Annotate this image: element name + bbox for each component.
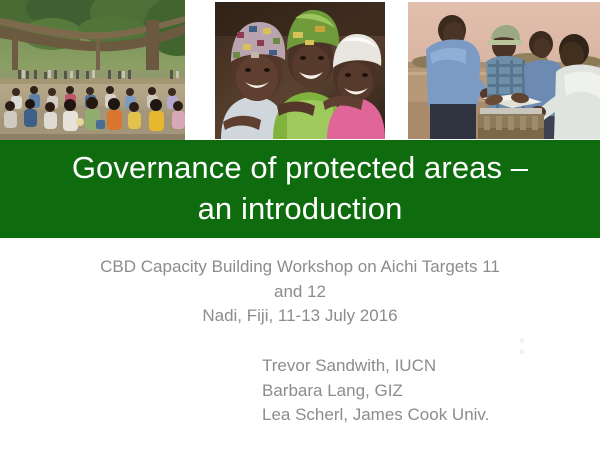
event-subtitle: CBD Capacity Building Workshop on Aichi … bbox=[60, 255, 540, 329]
subtitle-line-1: CBD Capacity Building Workshop on Aichi … bbox=[60, 255, 540, 280]
three-women-embracing-image bbox=[215, 2, 385, 139]
presenter-2: Barbara Lang, GIZ bbox=[262, 379, 489, 404]
faint-placeholder-marks bbox=[520, 338, 526, 360]
slide-body: CBD Capacity Building Workshop on Aichi … bbox=[0, 238, 600, 450]
title-banner: Governance of protected areas – an intro… bbox=[0, 140, 600, 238]
presentation-slide: Governance of protected areas – an intro… bbox=[0, 0, 600, 450]
slide-title-line-2: an introduction bbox=[198, 188, 403, 229]
slide-title-line-1: Governance of protected areas – bbox=[72, 147, 528, 188]
presenter-1: Trevor Sandwith, IUCN bbox=[262, 354, 489, 379]
photo-three-women-embracing bbox=[215, 2, 385, 139]
presenter-list: Trevor Sandwith, IUCN Barbara Lang, GIZ … bbox=[262, 354, 489, 428]
photo-men-reviewing-document bbox=[408, 2, 600, 139]
subtitle-line-3: Nadi, Fiji, 11-13 July 2016 bbox=[60, 304, 540, 329]
subtitle-line-2: and 12 bbox=[60, 280, 540, 305]
presenter-3: Lea Scherl, James Cook Univ. bbox=[262, 403, 489, 428]
photo-strip bbox=[0, 0, 600, 141]
community-meeting-under-trees-image bbox=[0, 0, 185, 141]
photo-community-meeting-under-trees bbox=[0, 0, 185, 141]
men-reviewing-document-image bbox=[408, 2, 600, 139]
